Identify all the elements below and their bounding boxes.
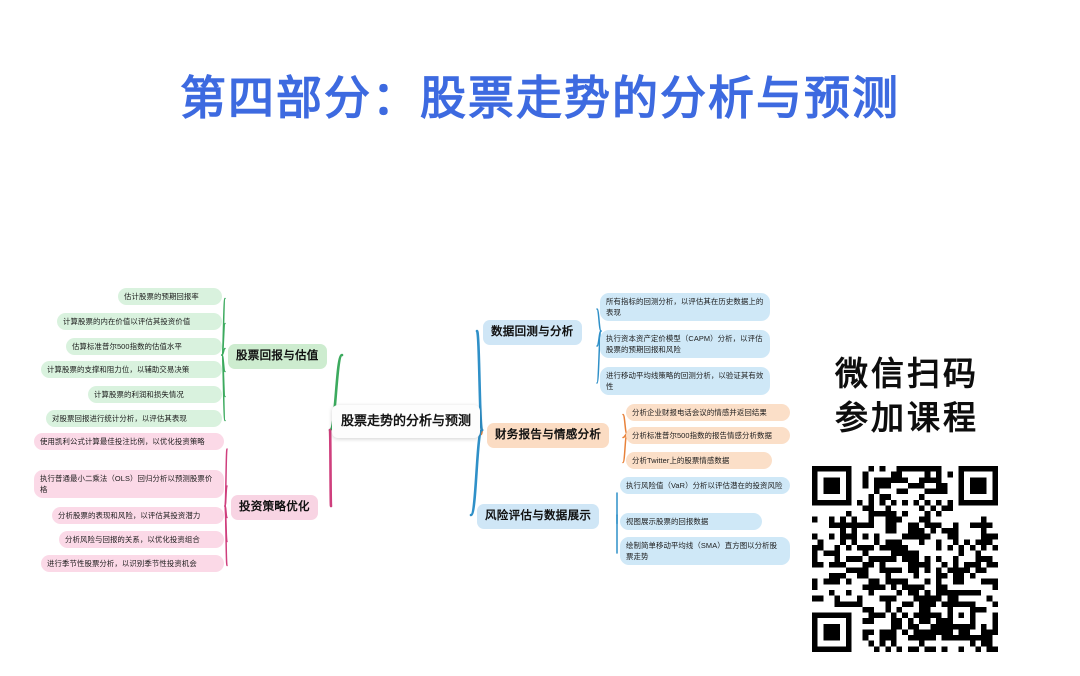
leaf-node[interactable]: 分析企业财报电话会议的情感并返回结果 — [626, 404, 790, 421]
promo-text: 微信扫码 参加课程 — [812, 352, 1002, 439]
leaf-node[interactable]: 进行季节性股票分析，以识别季节性投资机会 — [41, 555, 224, 572]
leaf-label: 执行资本资产定价模型（CAPM）分析，以评估股票的预期回报和风险 — [606, 334, 763, 354]
center-node[interactable]: 股票走势的分析与预测 — [332, 405, 480, 438]
leaf-node[interactable]: 执行普通最小二乘法（OLS）回归分析以预测股票价格 — [34, 470, 224, 498]
leaf-node[interactable]: 执行风险值（VaR）分析以评估潜在的投资风险 — [620, 477, 790, 494]
branch-data-backtesting-analysis[interactable]: 数据回测与分析 — [483, 320, 582, 345]
leaf-label: 对股票回报进行统计分析，以评估其表现 — [52, 414, 187, 423]
leaf-label: 分析Twitter上的股票情感数据 — [632, 456, 729, 465]
leaf-label: 分析风险与回报的关系，以优化投资组合 — [65, 535, 200, 544]
leaf-label: 进行移动平均线策略的回测分析，以验证其有效性 — [606, 371, 763, 391]
leaf-node[interactable]: 分析股票的表现和风险，以评估其投资潜力 — [52, 507, 224, 524]
leaf-node[interactable]: 使用凯利公式计算最佳投注比例，以优化投资策略 — [34, 433, 224, 450]
leaf-label: 所有指标的回测分析，以评估其在历史数据上的表现 — [606, 297, 763, 317]
leaf-node[interactable]: 视图展示股票的回报数据 — [620, 513, 762, 530]
branch-financial-report-sentiment[interactable]: 财务报告与情感分析 — [487, 423, 609, 448]
leaf-label: 绘制简单移动平均线（SMA）直方图以分析股票走势 — [626, 541, 777, 561]
branch-label: 数据回测与分析 — [491, 326, 574, 338]
leaf-node[interactable]: 估计股票的预期回报率 — [118, 288, 222, 305]
leaf-node[interactable]: 进行移动平均线策略的回测分析，以验证其有效性 — [600, 367, 770, 395]
leaf-node[interactable]: 所有指标的回测分析，以评估其在历史数据上的表现 — [600, 293, 770, 321]
branch-label: 投资策略优化 — [239, 501, 310, 513]
leaf-label: 计算股票的支撑和阻力位，以辅助交易决策 — [47, 365, 189, 374]
leaf-node[interactable]: 分析风险与回报的关系，以优化投资组合 — [59, 531, 224, 548]
leaf-node[interactable]: 执行资本资产定价模型（CAPM）分析，以评估股票的预期回报和风险 — [600, 330, 770, 358]
leaf-label: 执行普通最小二乘法（OLS）回归分析以预测股票价格 — [40, 474, 212, 494]
branch-investment-strategy-optimization[interactable]: 投资策略优化 — [231, 495, 318, 520]
promo-line-2: 参加课程 — [812, 396, 1002, 440]
leaf-label: 估计股票的预期回报率 — [124, 292, 199, 301]
leaf-label: 分析标准普尔500指数的报告情感分析数据 — [632, 431, 772, 440]
leaf-node[interactable]: 计算股票的内在价值以评估其投资价值 — [57, 313, 222, 330]
qr-code[interactable] — [812, 466, 998, 652]
leaf-node[interactable]: 分析Twitter上的股票情感数据 — [626, 452, 772, 469]
leaf-label: 分析企业财报电话会议的情感并返回结果 — [632, 408, 767, 417]
page-title: 第四部分：股票走势的分析与预测 — [0, 62, 1080, 128]
leaf-label: 分析股票的表现和风险，以评估其投资潜力 — [58, 511, 200, 520]
branch-label: 风险评估与数据展示 — [485, 510, 591, 522]
branch-risk-assessment-visualization[interactable]: 风险评估与数据展示 — [477, 504, 599, 529]
leaf-label: 计算股票的利润和损失情况 — [94, 390, 184, 399]
qr-code-image — [812, 466, 998, 652]
branch-label: 股票回报与估值 — [236, 350, 319, 362]
leaf-node[interactable]: 对股票回报进行统计分析，以评估其表现 — [46, 410, 222, 427]
leaf-label: 进行季节性股票分析，以识别季节性投资机会 — [47, 559, 197, 568]
branch-stock-return-valuation[interactable]: 股票回报与估值 — [228, 344, 327, 369]
mindmap-canvas: 第四部分：股票走势的分析与预测 股票回报与估值估计股票的预期回报率计算股票的内在… — [0, 0, 1080, 676]
leaf-node[interactable]: 分析标准普尔500指数的报告情感分析数据 — [626, 427, 790, 444]
leaf-label: 计算股票的内在价值以评估其投资价值 — [63, 317, 190, 326]
leaf-node[interactable]: 绘制简单移动平均线（SMA）直方图以分析股票走势 — [620, 537, 790, 565]
leaf-label: 估算标准普尔500指数的估值水平 — [72, 342, 182, 351]
branch-label: 财务报告与情感分析 — [495, 429, 601, 441]
leaf-node[interactable]: 估算标准普尔500指数的估值水平 — [66, 338, 222, 355]
leaf-label: 视图展示股票的回报数据 — [626, 517, 708, 526]
leaf-node[interactable]: 计算股票的支撑和阻力位，以辅助交易决策 — [41, 361, 222, 378]
leaf-node[interactable]: 计算股票的利润和损失情况 — [88, 386, 222, 403]
promo-line-1: 微信扫码 — [812, 352, 1002, 396]
leaf-label: 使用凯利公式计算最佳投注比例，以优化投资策略 — [40, 437, 205, 446]
leaf-label: 执行风险值（VaR）分析以评估潜在的投资风险 — [626, 481, 782, 490]
